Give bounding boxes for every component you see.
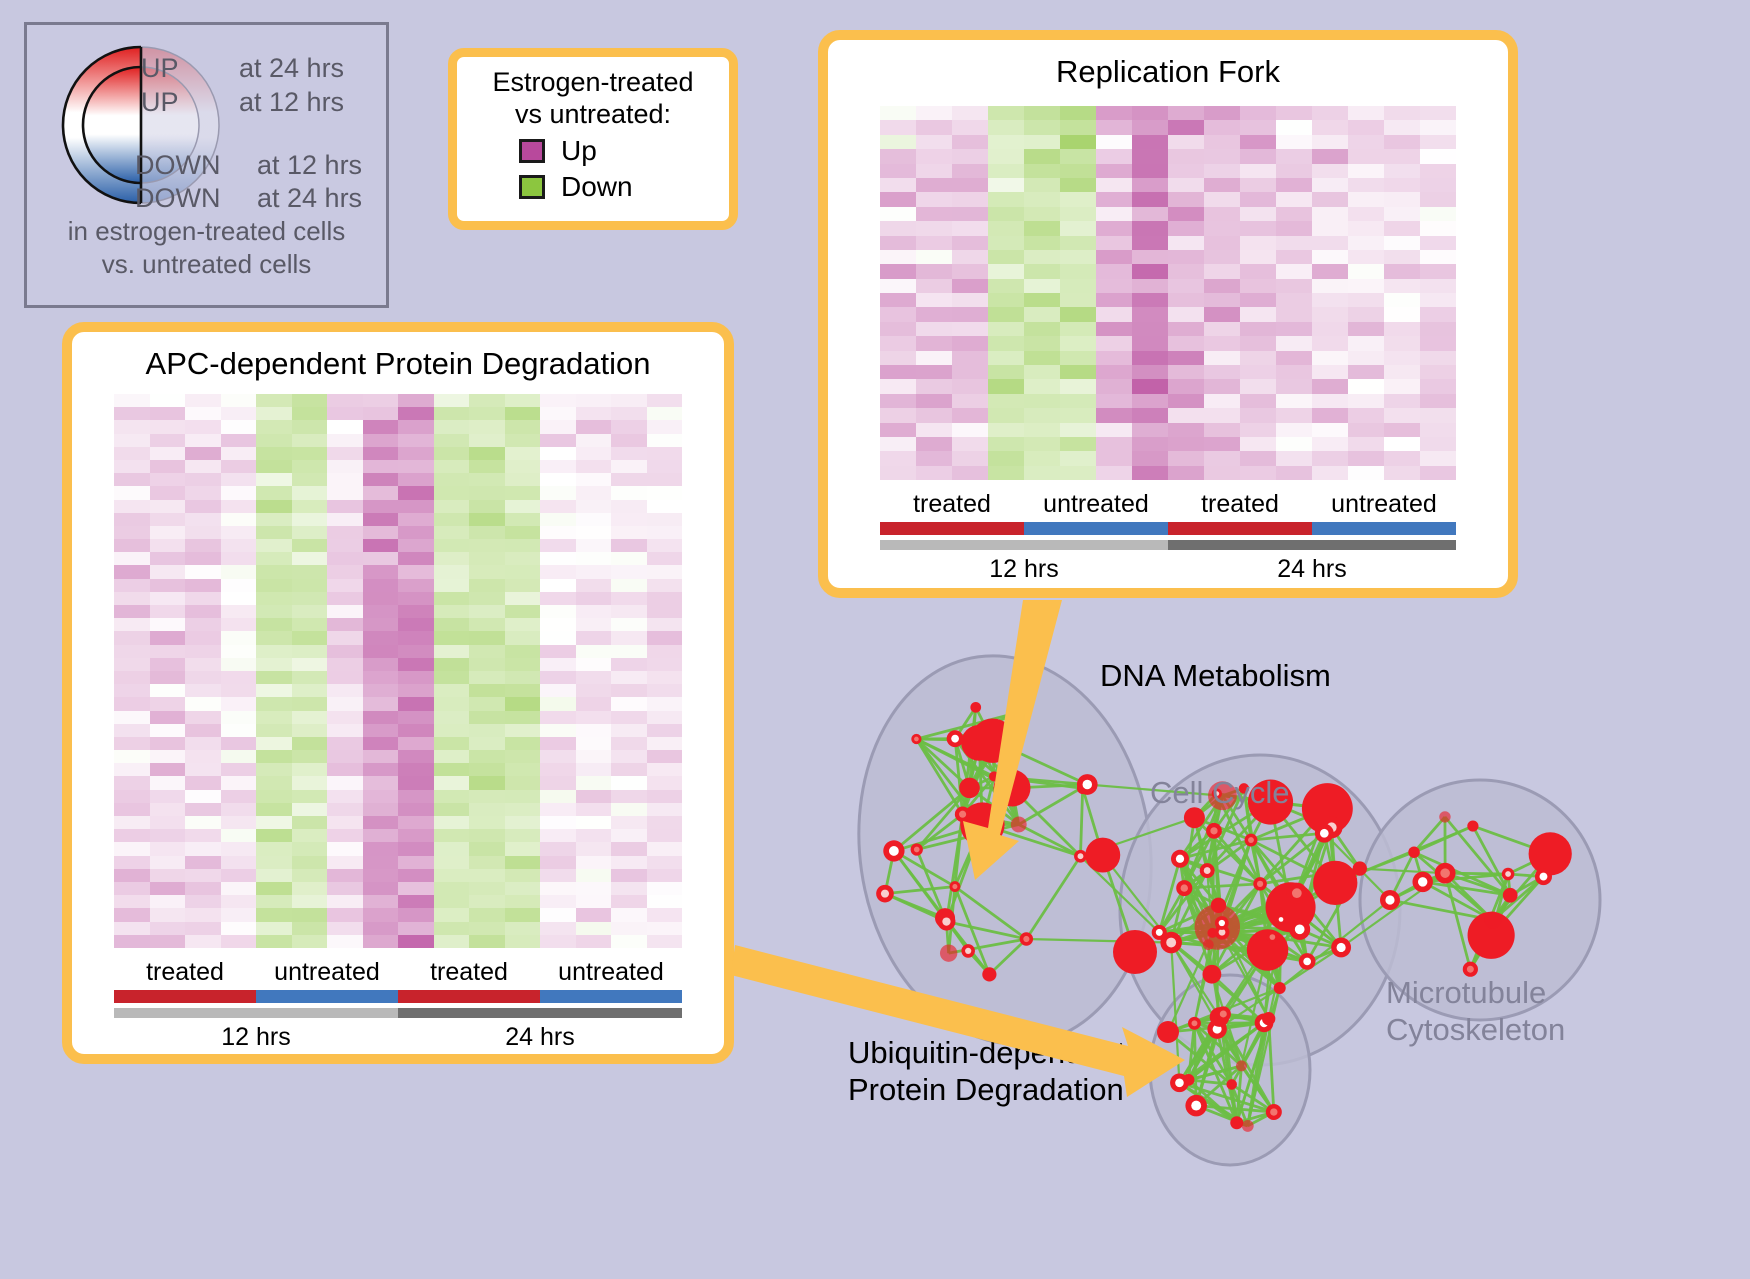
heatmap-cell	[1096, 423, 1132, 437]
heatmap-cell	[221, 579, 257, 592]
heatmap-cell	[221, 605, 257, 618]
bar-untreated-24	[1312, 522, 1456, 535]
heatmap-cell	[1384, 221, 1420, 235]
heatmap-cell	[150, 895, 186, 908]
heatmap-cell	[1060, 351, 1096, 365]
figure-canvas: UP at 24 hrs UP at 12 hrs DOWN at 12 hrs…	[0, 0, 1750, 1279]
heatmap-cell	[1384, 365, 1420, 379]
heatmap-cell	[647, 895, 683, 908]
heatmap-cell	[576, 579, 612, 592]
heatmap-cell	[540, 895, 576, 908]
panel-apc-degradation: APC-dependent Protein Degradation treate…	[62, 322, 734, 1064]
heatmap-cell	[256, 434, 292, 447]
heatmap-cell	[952, 437, 988, 451]
heatmap-cell	[150, 605, 186, 618]
heatmap-cell	[576, 803, 612, 816]
heatmap-cell	[327, 526, 363, 539]
heatmap-cell	[1240, 307, 1276, 321]
heatmap-cell	[576, 935, 612, 948]
key-word-up-12: UP	[141, 87, 179, 118]
heatmap-cell	[363, 856, 399, 869]
heatmap-cell	[988, 164, 1024, 178]
heatmap-cell	[611, 592, 647, 605]
heatmap-cell	[256, 579, 292, 592]
network-node-core	[1210, 827, 1217, 834]
heatmap-cell	[150, 763, 186, 776]
heatmap-cell	[256, 750, 292, 763]
heatmap-cell	[1384, 250, 1420, 264]
heatmap-cell	[1024, 149, 1060, 163]
legend-title-line1: Estrogen-treated	[457, 67, 729, 99]
heatmap-cell	[1240, 250, 1276, 264]
heatmap-cell	[1096, 135, 1132, 149]
heatmap-cell	[1420, 437, 1456, 451]
heatmap-cell	[185, 935, 221, 948]
heatmap-cell	[1096, 437, 1132, 451]
heatmap-cell	[292, 526, 328, 539]
heatmap-cell	[1420, 394, 1456, 408]
heatmap-cell	[916, 135, 952, 149]
heatmap-cell	[256, 842, 292, 855]
heatmap-cell	[1060, 192, 1096, 206]
heatmap-cell	[150, 684, 186, 697]
heatmap-cell	[434, 605, 470, 618]
heatmap-cell	[611, 394, 647, 407]
heatmap-cell	[434, 829, 470, 842]
heatmap-cell	[1240, 437, 1276, 451]
heatmap-cell	[647, 882, 683, 895]
heatmap-cell	[1348, 451, 1384, 465]
heatmap-cell	[114, 724, 150, 737]
axis-label-12hrs: 12 hrs	[880, 550, 1168, 584]
network-node-core	[1023, 936, 1029, 942]
network-node-core	[1191, 1020, 1197, 1026]
heatmap-cell	[363, 922, 399, 935]
heatmap-cell	[505, 671, 541, 684]
heatmap-cell	[327, 631, 363, 644]
heatmap-cell	[1132, 135, 1168, 149]
heatmap-cell	[1348, 437, 1384, 451]
heatmap-cell	[114, 882, 150, 895]
network-node-core	[1295, 924, 1305, 934]
heatmap-cell	[576, 592, 612, 605]
heatmap-cell	[1420, 120, 1456, 134]
heatmap-cell	[1024, 135, 1060, 149]
heatmap-cell	[185, 737, 221, 750]
heatmap-cell	[576, 908, 612, 921]
heatmap-cell	[952, 293, 988, 307]
network-node	[1353, 861, 1367, 875]
heatmap-cell	[256, 684, 292, 697]
heatmap-cell	[114, 711, 150, 724]
heatmap-cell	[150, 671, 186, 684]
heatmap-cell	[1096, 264, 1132, 278]
heatmap-cell	[292, 750, 328, 763]
heatmap-cell	[469, 869, 505, 882]
network-node	[970, 702, 981, 713]
heatmap-cell	[185, 394, 221, 407]
heatmap-cell	[1096, 192, 1132, 206]
heatmap-cell	[363, 750, 399, 763]
heatmap-cell	[1168, 135, 1204, 149]
heatmap-cell	[880, 221, 916, 235]
heatmap-cell	[505, 473, 541, 486]
heatmap-cell	[114, 592, 150, 605]
axis-apc-degradation: treated untreated treated untreated 12 h…	[114, 958, 682, 1052]
heatmap-cell	[1024, 120, 1060, 134]
heatmap-cell	[576, 790, 612, 803]
heatmap-cell	[114, 500, 150, 513]
heatmap-cell	[880, 451, 916, 465]
heatmap-cell	[880, 106, 916, 120]
heatmap-cell	[647, 631, 683, 644]
heatmap-cell	[647, 829, 683, 842]
heatmap-cell	[114, 842, 150, 855]
heatmap-cell	[1276, 106, 1312, 120]
heatmap-cell	[1168, 423, 1204, 437]
heatmap-cell	[256, 565, 292, 578]
heatmap-cell	[647, 935, 683, 948]
network-node	[1262, 1012, 1275, 1025]
heatmap-cell	[398, 790, 434, 803]
heatmap-cell	[988, 192, 1024, 206]
cluster-label-ubiquitin-degradation: Ubiquitin-dependent Protein Degradation	[848, 1035, 1126, 1108]
heatmap-cell	[988, 365, 1024, 379]
heatmap-cell	[185, 407, 221, 420]
heatmap-cell	[363, 631, 399, 644]
heatmap-cell	[292, 592, 328, 605]
heatmap-cell	[434, 579, 470, 592]
heatmap-cell	[611, 776, 647, 789]
heatmap-cell	[434, 763, 470, 776]
heatmap-cell	[1240, 322, 1276, 336]
heatmap-cell	[256, 763, 292, 776]
heatmap-cell	[505, 565, 541, 578]
network-node-core	[1303, 958, 1311, 966]
heatmap-cell	[363, 565, 399, 578]
heatmap-cell	[221, 724, 257, 737]
heatmap-cell	[576, 737, 612, 750]
heatmap-cell	[576, 434, 612, 447]
network-node-core	[1166, 938, 1176, 948]
heatmap-cell	[434, 724, 470, 737]
heatmap-cell	[647, 618, 683, 631]
heatmap-cell	[1384, 379, 1420, 393]
heatmap-cell	[1240, 135, 1276, 149]
axis-label-untreated-12: untreated	[1024, 490, 1168, 522]
heatmap-cell	[1348, 394, 1384, 408]
heatmap-cell	[1420, 149, 1456, 163]
heatmap-cell	[952, 351, 988, 365]
heatmap-cell	[292, 565, 328, 578]
heatmap-cell	[398, 711, 434, 724]
heatmap-cell	[1348, 466, 1384, 480]
heatmap-cell	[256, 513, 292, 526]
axis-replication-fork: treated untreated treated untreated 12 h…	[880, 490, 1456, 584]
heatmap-cell	[363, 935, 399, 948]
heatmap-cell	[434, 394, 470, 407]
heatmap-cell	[1348, 221, 1384, 235]
heatmap-cell	[150, 750, 186, 763]
heatmap-cell	[469, 697, 505, 710]
network-node-core	[1279, 917, 1284, 922]
axis-label-treated-12: treated	[114, 958, 256, 990]
heatmap-cell	[327, 552, 363, 565]
heatmap-cell	[1024, 336, 1060, 350]
heatmap-cell	[540, 513, 576, 526]
network-node-core	[1270, 1108, 1277, 1115]
heatmap-cell	[292, 869, 328, 882]
ub-line2: Protein Degradation	[848, 1072, 1126, 1109]
heatmap-cell	[363, 829, 399, 842]
heatmap-cell	[434, 816, 470, 829]
heatmap-cell	[988, 336, 1024, 350]
heatmap-cell	[1276, 221, 1312, 235]
heatmap-cell	[1096, 451, 1132, 465]
network-node	[1226, 1079, 1237, 1090]
heatmap-cell	[1024, 106, 1060, 120]
heatmap-cell	[576, 513, 612, 526]
network-node	[1313, 861, 1357, 905]
heatmap-cell	[1096, 466, 1132, 480]
heatmap-cell	[327, 816, 363, 829]
heatmap-cell	[611, 420, 647, 433]
heatmap-cell	[880, 236, 916, 250]
heatmap-cell	[221, 618, 257, 631]
heatmap-cell	[292, 420, 328, 433]
bar-24hrs	[1168, 540, 1456, 550]
heatmap-cell	[647, 763, 683, 776]
heatmap-cell	[185, 645, 221, 658]
axis-label-untreated-24: untreated	[540, 958, 682, 990]
key-caption: in estrogen-treated cells vs. untreated …	[27, 215, 386, 280]
heatmap-cell	[1096, 365, 1132, 379]
heatmap-cell	[398, 684, 434, 697]
heatmap-cell	[1420, 466, 1456, 480]
heatmap-cell	[434, 922, 470, 935]
heatmap-cell	[1168, 250, 1204, 264]
heatmap-cell	[398, 605, 434, 618]
heatmap-cell	[611, 829, 647, 842]
heatmap-cell	[1420, 293, 1456, 307]
heatmap-cell	[292, 394, 328, 407]
heatmap-cell	[505, 684, 541, 697]
heatmap-cell	[576, 605, 612, 618]
heatmap-cell	[916, 106, 952, 120]
heatmap-cell	[611, 526, 647, 539]
heatmap-cell	[1024, 466, 1060, 480]
heatmap-cell	[398, 592, 434, 605]
heatmap-cell	[880, 250, 916, 264]
heatmap-cell	[1060, 322, 1096, 336]
heatmap-cell	[1384, 423, 1420, 437]
heatmap-cell	[1204, 322, 1240, 336]
heatmap-cell	[952, 423, 988, 437]
heatmap-cell	[1240, 293, 1276, 307]
heatmap-cell	[434, 776, 470, 789]
heatmap-cell	[114, 908, 150, 921]
heatmap-cell	[114, 552, 150, 565]
network-node-core	[1156, 929, 1163, 936]
heatmap-cell	[256, 539, 292, 552]
heatmap-cell	[256, 935, 292, 948]
heatmap-cell	[398, 526, 434, 539]
heatmap-cell	[1168, 221, 1204, 235]
heatmap-cell	[469, 539, 505, 552]
network-node-core	[1204, 867, 1211, 874]
heatmap-cell	[505, 697, 541, 710]
network-node	[1207, 928, 1217, 938]
heatmap-cell	[185, 631, 221, 644]
heatmap-cell	[988, 236, 1024, 250]
heatmap-cell	[363, 882, 399, 895]
heatmap-cell	[540, 935, 576, 948]
heatmap-cell	[611, 658, 647, 671]
heatmap-cell	[1096, 164, 1132, 178]
heatmap-cell	[1240, 164, 1276, 178]
heatmap-cell	[363, 618, 399, 631]
axis-label-treated-24: treated	[398, 958, 540, 990]
heatmap-cell	[576, 763, 612, 776]
heatmap-cell	[1060, 466, 1096, 480]
heatmap-cell	[1420, 207, 1456, 221]
heatmap-cell	[916, 178, 952, 192]
heatmap-cell	[185, 565, 221, 578]
heatmap-cell	[398, 882, 434, 895]
heatmap-cell	[185, 922, 221, 935]
mt-line2: Cytoskeleton	[1386, 1012, 1565, 1049]
heatmap-cell	[505, 763, 541, 776]
heatmap-cell	[114, 697, 150, 710]
heatmap-cell	[434, 803, 470, 816]
heatmap-cell	[292, 711, 328, 724]
heatmap-cell	[916, 451, 952, 465]
heatmap-cell	[150, 776, 186, 789]
heatmap-cell	[363, 526, 399, 539]
heatmap-cell	[221, 631, 257, 644]
heatmap-cell	[292, 776, 328, 789]
heatmap-cell	[611, 816, 647, 829]
heatmap-cell	[150, 473, 186, 486]
heatmap-cell	[576, 486, 612, 499]
heatmap-cell	[1024, 192, 1060, 206]
heatmap-cell	[1420, 451, 1456, 465]
network-node-core	[1220, 1010, 1227, 1017]
heatmap-cell	[880, 120, 916, 134]
heatmap-cell	[1276, 379, 1312, 393]
heatmap-cell	[256, 407, 292, 420]
heatmap-cell	[1384, 178, 1420, 192]
heatmap-cell	[434, 856, 470, 869]
heatmap-cell	[647, 790, 683, 803]
axis-label-untreated-12: untreated	[256, 958, 398, 990]
heatmap-cell	[1384, 466, 1420, 480]
heatmap-cell	[327, 565, 363, 578]
heatmap-cell	[114, 816, 150, 829]
heatmap-cell	[363, 539, 399, 552]
heatmap-cell	[1132, 394, 1168, 408]
heatmap-cell	[880, 322, 916, 336]
heatmap-cell	[1168, 307, 1204, 321]
heatmap-cell	[114, 658, 150, 671]
heatmap-cell	[505, 803, 541, 816]
heatmap-cell	[434, 645, 470, 658]
heatmap-cell	[1240, 423, 1276, 437]
heatmap-cell	[1240, 394, 1276, 408]
heatmap-cell	[221, 658, 257, 671]
heatmap-cell	[114, 790, 150, 803]
network-node	[1236, 1060, 1247, 1071]
heatmap-cell	[1024, 236, 1060, 250]
heatmap-cell	[1348, 365, 1384, 379]
heatmap-cell	[1276, 307, 1312, 321]
heatmap-cell	[363, 763, 399, 776]
bar-12hrs	[880, 540, 1168, 550]
heatmap-cell	[398, 434, 434, 447]
heatmap-cell	[150, 737, 186, 750]
heatmap-cell	[576, 565, 612, 578]
heatmap-cell	[327, 658, 363, 671]
heatmap-cell	[1420, 336, 1456, 350]
heatmap-cell	[611, 724, 647, 737]
heatmap-cell	[1060, 408, 1096, 422]
network-node-core	[1385, 895, 1394, 904]
heatmap-cell	[221, 486, 257, 499]
heatmap-cell	[114, 631, 150, 644]
heatmap-cell	[880, 207, 916, 221]
heatmap-cell	[434, 671, 470, 684]
heatmap-cell	[505, 407, 541, 420]
heatmap-cell	[1420, 379, 1456, 393]
heatmap-cell	[916, 149, 952, 163]
heatmap-cell	[1348, 379, 1384, 393]
heatmap-cell	[611, 684, 647, 697]
heatmap-cell	[540, 711, 576, 724]
heatmap-cell	[469, 935, 505, 948]
heatmap-cell	[1348, 293, 1384, 307]
heatmap-cell	[398, 394, 434, 407]
heatmap-cell	[1060, 336, 1096, 350]
heatmap-cell	[1420, 423, 1456, 437]
heatmap-cell	[1240, 279, 1276, 293]
heatmap-cell	[611, 803, 647, 816]
heatmap-cell	[647, 776, 683, 789]
heatmap-cell	[916, 279, 952, 293]
network-node-core	[1440, 868, 1450, 878]
heatmap-cell	[327, 803, 363, 816]
heatmap-cell	[363, 908, 399, 921]
cluster-label-cell-cycle: Cell Cycle	[1150, 775, 1290, 811]
heatmap-cell	[1384, 451, 1420, 465]
heatmap-cell	[256, 829, 292, 842]
key-time-up-24: at 24 hrs	[239, 53, 344, 84]
heatmap-cell	[150, 618, 186, 631]
heatmap-cell	[114, 776, 150, 789]
heatmap-cell	[1204, 336, 1240, 350]
heatmap-cell	[150, 829, 186, 842]
heatmap-cell	[185, 592, 221, 605]
heatmap-cell	[327, 869, 363, 882]
heatmap-cell	[1420, 365, 1456, 379]
heatmap-cell	[1060, 365, 1096, 379]
heatmap-apc-degradation	[114, 394, 682, 948]
heatmap-cell	[576, 776, 612, 789]
heatmap-cell	[1204, 379, 1240, 393]
heatmap-cell	[185, 420, 221, 433]
heatmap-cell	[540, 671, 576, 684]
heatmap-cell	[916, 120, 952, 134]
heatmap-cell	[221, 500, 257, 513]
